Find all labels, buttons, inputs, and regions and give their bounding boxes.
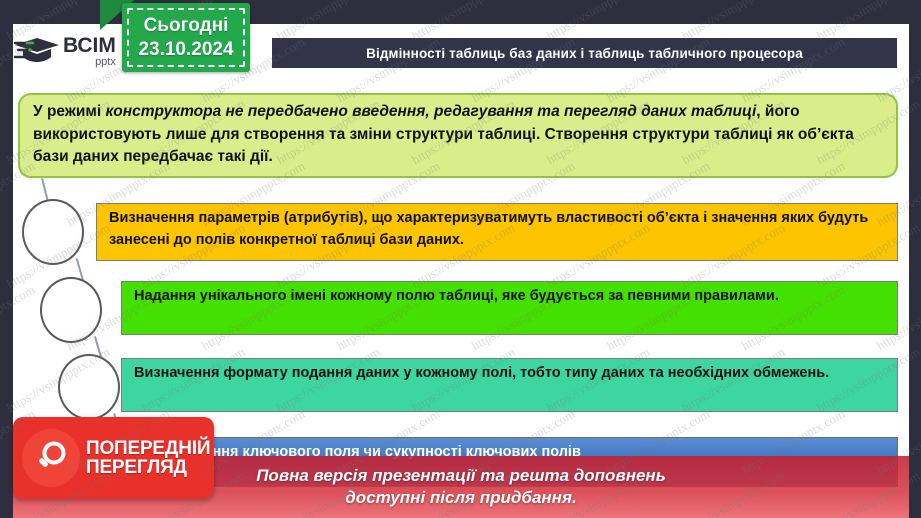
intro-text-emphasis: конструктора не передбачено введення, ре… — [105, 103, 756, 120]
step-text: Надання унікального імені кожному полю т… — [134, 286, 887, 308]
slide-title-bar: Відмінності таблиць баз даних і таблиць … — [272, 38, 897, 68]
intro-text-part1: У режимі — [33, 103, 105, 120]
step-bullet-circle — [22, 199, 84, 265]
page-title: Відмінності таблиць баз даних і таблиць … — [366, 46, 803, 61]
graduation-cap-icon — [14, 31, 60, 71]
step-row: Визначення формату подання даних у кожно… — [121, 358, 898, 412]
magnifier-icon — [22, 429, 80, 487]
step-text: Визначення формату подання даних у кожно… — [134, 363, 887, 385]
step-bullet-circle — [40, 277, 102, 343]
preview-badge-line1: ПОПЕРЕДНІЙ — [86, 439, 210, 458]
step-row: Визначення параметрів (атрибутів), що ха… — [96, 203, 898, 261]
purchase-notice-line1: Повна версія презентації та решта доповн… — [256, 465, 666, 487]
left-dark-strip — [0, 0, 13, 518]
purchase-notice-line2: доступні після придбання. — [345, 487, 576, 509]
preview-badge[interactable]: ПОПЕРЕДНІЙ ПЕРЕГЛЯД — [13, 417, 214, 499]
step-bullet-circle — [58, 354, 120, 420]
slide-canvas: ВСІМ pptx Сьогодні 23.10.2024 Відмінност… — [0, 0, 921, 518]
preview-badge-line2: ПЕРЕГЛЯД — [86, 458, 210, 477]
date-badge-value: 23.10.2024 — [138, 39, 233, 61]
today-date-badge: Сьогодні 23.10.2024 — [122, 3, 250, 72]
step-row: Надання унікального імені кожному полю т… — [121, 281, 898, 335]
date-badge-label: Сьогодні — [144, 15, 229, 37]
step-text: Визначення параметрів (атрибутів), що ха… — [109, 208, 887, 252]
logo-name: ВСІМ — [63, 35, 116, 56]
right-dark-strip — [909, 0, 921, 518]
brand-logo: ВСІМ pptx — [14, 28, 130, 74]
intro-text-box: У режимі конструктора не передбачено вве… — [18, 93, 898, 178]
logo-suffix: pptx — [63, 57, 116, 68]
